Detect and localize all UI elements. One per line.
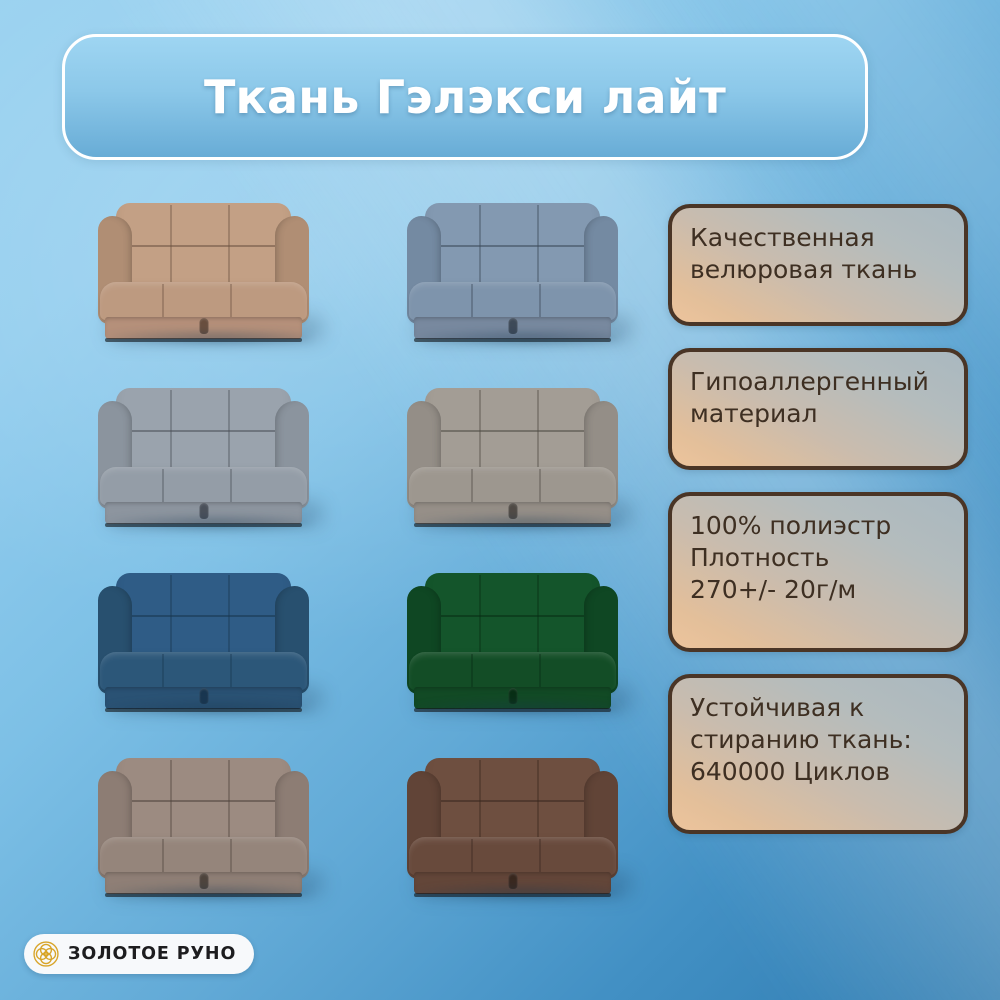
backrest-seam	[228, 760, 230, 847]
sofa-cell[interactable]	[367, 182, 658, 367]
backrest-seam	[537, 390, 539, 477]
page-title: Ткань Гэлэкси лайт	[204, 70, 726, 124]
seat-seam	[230, 469, 232, 501]
sofa-ground-shadow	[414, 330, 620, 346]
backrest-seam	[170, 760, 172, 847]
sofa-seat-cushion	[100, 467, 306, 505]
feature-line: 270+/- 20г/м	[690, 574, 946, 606]
sofa-swatch-brown[interactable]	[401, 755, 625, 905]
sofa-swatch-beige[interactable]	[92, 200, 316, 350]
sofa-seat-cushion	[100, 652, 306, 690]
title-banner: Ткань Гэлэкси лайт	[62, 34, 868, 160]
backrest-seam	[479, 390, 481, 477]
feature-line: Гипоаллергенный	[690, 366, 946, 398]
sofa-cell[interactable]	[58, 182, 349, 367]
sofa-seat-cushion	[100, 837, 306, 875]
backrest-seam	[170, 205, 172, 292]
backrest-seam	[228, 205, 230, 292]
backrest-seam	[228, 390, 230, 477]
backrest-seam	[228, 575, 230, 662]
sofa-swatch-green[interactable]	[401, 570, 625, 720]
seat-seam	[539, 654, 541, 686]
feature-card-quality-velour: Качественная велюровая ткань	[668, 204, 968, 326]
sofa-ground-shadow	[105, 700, 311, 716]
feature-line: материал	[690, 398, 946, 430]
seat-seam	[539, 839, 541, 871]
sofa-ground-shadow	[414, 515, 620, 531]
sofa-seat-cushion	[409, 837, 615, 875]
sofa-ground-shadow	[105, 885, 311, 901]
product-poster: Ткань Гэлэкси лайт	[0, 0, 1000, 1000]
feature-line: Качественная	[690, 222, 946, 254]
backrest-seam	[537, 575, 539, 662]
sofa-cell[interactable]	[58, 737, 349, 922]
feature-card-abrasion-resistance: Устойчивая к стиранию ткань: 640000 Цикл…	[668, 674, 968, 834]
seat-seam	[471, 839, 473, 871]
backrest-seam	[537, 205, 539, 292]
sofa-ground-shadow	[414, 885, 620, 901]
feature-card-list: Качественная велюровая ткань Гипоаллерге…	[668, 204, 968, 834]
seat-seam	[471, 469, 473, 501]
backrest-seam	[479, 760, 481, 847]
sofa-cell[interactable]	[58, 552, 349, 737]
sofa-ground-shadow	[414, 700, 620, 716]
feature-line: велюровая ткань	[690, 254, 946, 286]
sofa-swatch-blue[interactable]	[92, 570, 316, 720]
sofa-cell[interactable]	[367, 737, 658, 922]
backrest-seam	[170, 575, 172, 662]
brand-logo[interactable]: ЗОЛОТОЕ РУНО	[24, 934, 254, 974]
seat-seam	[230, 284, 232, 316]
seat-seam	[471, 284, 473, 316]
backrest-seam	[479, 575, 481, 662]
backrest-seam	[537, 760, 539, 847]
seat-seam	[162, 839, 164, 871]
seat-seam	[471, 654, 473, 686]
feature-card-composition-density: 100% полиэстр Плотность 270+/- 20г/м	[668, 492, 968, 652]
sofa-seat-cushion	[409, 467, 615, 505]
sofa-ground-shadow	[105, 515, 311, 531]
backrest-seam	[479, 205, 481, 292]
seat-seam	[162, 469, 164, 501]
sofa-cell[interactable]	[367, 552, 658, 737]
sofa-cell[interactable]	[367, 367, 658, 552]
seat-seam	[230, 839, 232, 871]
sofa-swatch-dark-beige[interactable]	[92, 755, 316, 905]
seat-seam	[539, 284, 541, 316]
sofa-color-grid	[58, 182, 658, 922]
sofa-swatch-light-gray[interactable]	[92, 385, 316, 535]
feature-line: Устойчивая к	[690, 692, 946, 724]
sofa-ground-shadow	[105, 330, 311, 346]
seat-seam	[230, 654, 232, 686]
seat-seam	[162, 284, 164, 316]
feature-line: стиранию ткань:	[690, 724, 946, 756]
sofa-seat-cushion	[100, 282, 306, 320]
feature-line: 640000 Циклов	[690, 756, 946, 788]
sofa-seat-cushion	[409, 652, 615, 690]
golden-fleece-rosette-icon	[33, 941, 59, 967]
backrest-seam	[170, 390, 172, 477]
sofa-seat-cushion	[409, 282, 615, 320]
feature-line: Плотность	[690, 542, 946, 574]
seat-seam	[162, 654, 164, 686]
feature-line: 100% полиэстр	[690, 510, 946, 542]
sofa-swatch-gray-beige[interactable]	[401, 385, 625, 535]
feature-card-hypoallergenic: Гипоаллергенный материал	[668, 348, 968, 470]
sofa-swatch-blue-gray[interactable]	[401, 200, 625, 350]
sofa-cell[interactable]	[58, 367, 349, 552]
brand-name: ЗОЛОТОЕ РУНО	[68, 944, 236, 964]
seat-seam	[539, 469, 541, 501]
